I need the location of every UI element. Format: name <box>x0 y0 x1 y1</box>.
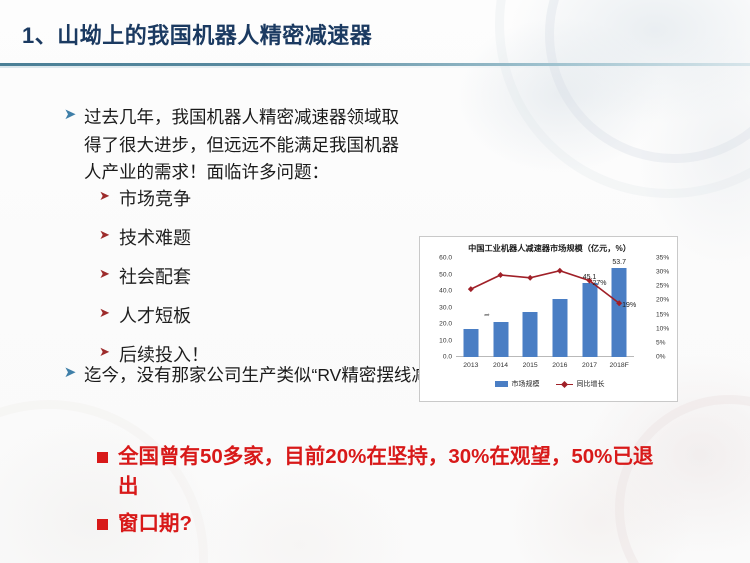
y-axis-right-tick: 0% <box>656 354 666 361</box>
bullet-main-1-text: 过去几年，我国机器人精密减速器领域取得了很大进步，但远远不能满足我国机器人产业的… <box>84 104 412 187</box>
bar-value-label: 53.7 <box>612 259 626 266</box>
legend-item-market-size: 市场规模 <box>495 379 540 389</box>
list-item: ➤ 人才短板 <box>97 303 209 330</box>
slide-body: ➤ 过去几年，我国机器人精密减速器领域取得了很大进步，但远远不能满足我国机器人产… <box>0 64 750 563</box>
y-axis-right-tick: 35% <box>656 255 669 262</box>
y-axis-right-tick: 5% <box>656 339 666 346</box>
bullet-main-1: ➤ 过去几年，我国机器人精密减速器领域取得了很大进步，但远远不能满足我国机器人产… <box>62 104 412 187</box>
legend-label: 市场规模 <box>512 379 540 389</box>
list-item: 全国曾有50多家，目前20%在坚持，30%在观望，50%已退出 <box>97 442 657 503</box>
y-axis-left-tick: 10.0 <box>439 337 452 344</box>
mouse-cursor-artifact: ➦ <box>484 311 490 319</box>
line-value-label: 19% <box>622 302 636 309</box>
list-item: ➤ 社会配套 <box>97 264 209 291</box>
legend-item-growth: 同比增长 <box>556 379 605 389</box>
square-bullet-icon <box>97 519 108 530</box>
y-axis-left-tick: 60.0 <box>439 255 452 262</box>
sub-item-label: 社会配套 <box>119 264 191 291</box>
y-axis-right-tick: 15% <box>656 311 669 318</box>
page-title: 1、山坳上的我国机器人精密减速器 <box>22 18 372 50</box>
x-axis-tick: 2013 <box>463 362 478 369</box>
highlight-item-label: 窗口期? <box>118 509 192 539</box>
y-axis-left-tick: 0.0 <box>443 354 452 361</box>
y-axis-right-tick: 30% <box>656 269 669 276</box>
chart-title: 中国工业机器人减速器市场规模（亿元，%） <box>420 242 679 254</box>
chart-legend: 市场规模 同比增长 <box>420 379 679 389</box>
arrow-right-icon: ➤ <box>97 225 112 245</box>
x-axis-tick: 2016 <box>552 362 567 369</box>
line-value-label: 27% <box>593 280 607 287</box>
y-axis-right-tick: 20% <box>656 297 669 304</box>
arrow-right-icon: ➤ <box>62 104 78 126</box>
y-axis-left-tick: 30.0 <box>439 304 452 311</box>
list-item: ➤ 市场竞争 <box>97 186 209 213</box>
bar-swatch-icon <box>495 381 508 387</box>
sub-bullet-list: ➤ 市场竞争 ➤ 技术难题 ➤ 社会配套 ➤ 人才短板 ➤ 后续投入！ <box>97 186 209 381</box>
sub-item-label: 人才短板 <box>119 303 191 330</box>
arrow-right-icon: ➤ <box>97 303 112 323</box>
highlight-list: 全国曾有50多家，目前20%在坚持，30%在观望，50%已退出 窗口期? <box>97 442 657 545</box>
arrow-right-icon: ➤ <box>62 362 78 384</box>
highlight-item-label: 全国曾有50多家，目前20%在坚持，30%在观望，50%已退出 <box>118 442 657 503</box>
arrow-right-icon: ➤ <box>97 186 112 206</box>
legend-label: 同比增长 <box>577 379 605 389</box>
y-axis-right-tick: 25% <box>656 283 669 290</box>
y-axis-left-tick: 50.0 <box>439 271 452 278</box>
x-axis-tick: 2018F <box>610 362 629 369</box>
x-axis-tick: 2017 <box>582 362 597 369</box>
x-axis-tick: 2015 <box>523 362 538 369</box>
slide-canvas: 1、山坳上的我国机器人精密减速器 ➤ 过去几年，我国机器人精密减速器领域取得了很… <box>0 0 750 563</box>
arrow-right-icon: ➤ <box>97 342 112 362</box>
y-axis-left-tick: 20.0 <box>439 321 452 328</box>
list-item: ➤ 技术难题 <box>97 225 209 252</box>
y-axis-right-tick: 10% <box>656 325 669 332</box>
market-size-chart: 中国工业机器人减速器市场规模（亿元，%） 60.050.040.030.020.… <box>419 236 678 402</box>
y-axis-left-tick: 40.0 <box>439 288 452 295</box>
arrow-right-icon: ➤ <box>97 264 112 284</box>
sub-item-label: 技术难题 <box>119 225 191 252</box>
sub-item-label: 市场竞争 <box>119 186 191 213</box>
chart-plot-area: 60.050.040.030.020.010.00.0 35%30%25%20%… <box>456 258 634 357</box>
list-item: 窗口期? <box>97 509 657 539</box>
square-bullet-icon <box>97 452 108 463</box>
chart-growth-line <box>456 258 634 357</box>
line-swatch-icon <box>556 381 573 387</box>
x-axis-tick: 2014 <box>493 362 508 369</box>
slide-header: 1、山坳上的我国机器人精密减速器 <box>0 0 750 64</box>
